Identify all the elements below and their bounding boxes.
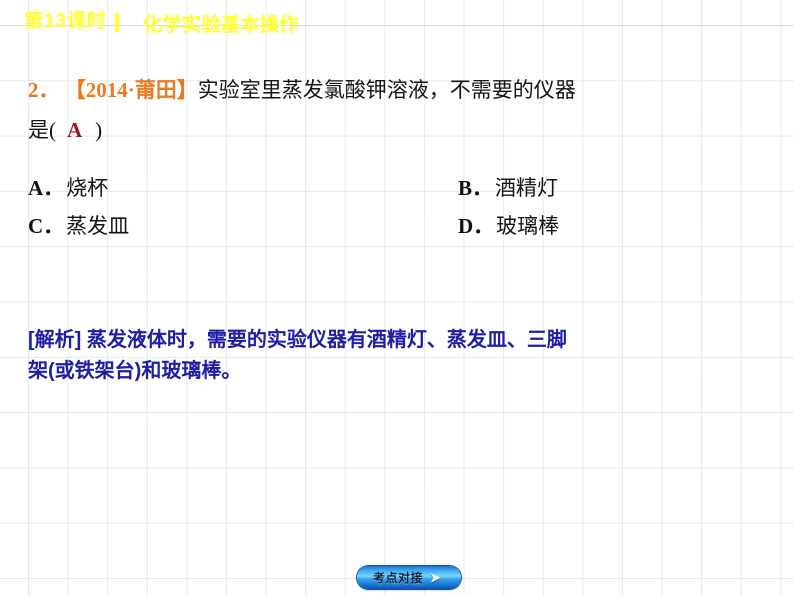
answer-prefix: 是( [28,118,56,142]
analysis-text-line-1: 蒸发液体时，需要的实验仪器有酒精灯、蒸发皿、三脚 [87,329,567,351]
option-d-label: D． [458,214,494,238]
option-b-label: B． [458,176,493,200]
analysis-line-1: [解析] 蒸发液体时，需要的实验仪器有酒精灯、蒸发皿、三脚 [28,325,768,356]
option-d-text: 玻璃棒 [496,214,559,238]
slide-canvas: 第13课时 化学实验基本操作 2． 【2014·莆田】实验室里蒸发氯酸钾溶液，不… [0,0,794,596]
header-lesson-label: 第13课时 [24,12,107,32]
analysis-tag: [解析] [28,329,81,351]
vertical-bar-icon [115,13,119,32]
question-source-tag: 【2014·莆田】 [65,78,198,102]
option-d[interactable]: D．玻璃棒 [458,207,559,245]
option-c-label: C． [28,214,64,238]
question-block: 2． 【2014·莆田】实验室里蒸发氯酸钾溶液，不需要的仪器 是(A) A．烧杯… [28,74,768,245]
answer-suffix: ) [95,118,102,142]
option-a-text: 烧杯 [66,176,108,200]
option-row: C．蒸发皿 D．玻璃棒 [28,207,768,245]
kaodian-duijie-button-label: 考点对接 [373,569,423,586]
question-stem-text: 实验室里蒸发氯酸钾溶液，不需要的仪器 [198,78,576,102]
option-b[interactable]: B．酒精灯 [458,169,558,207]
analysis-block: [解析] 蒸发液体时，需要的实验仪器有酒精灯、蒸发皿、三脚 架(或铁架台)和玻璃… [28,325,768,387]
option-row: A．烧杯 B．酒精灯 [28,169,768,207]
option-a[interactable]: A．烧杯 [28,169,458,207]
option-list: A．烧杯 B．酒精灯 C．蒸发皿 D．玻璃棒 [28,169,768,245]
analysis-line-2: 架(或铁架台)和玻璃棒。 [28,356,768,387]
question-number: 2． [28,78,60,102]
arrow-right-icon: ➤ [430,571,441,584]
option-c[interactable]: C．蒸发皿 [28,207,458,245]
option-c-text: 蒸发皿 [66,214,129,238]
header-topic-label: 化学实验基本操作 [143,8,299,37]
slide-header: 第13课时 化学实验基本操作 [0,0,794,44]
answer-key: A [56,118,95,142]
question-stem-line: 2． 【2014·莆田】实验室里蒸发氯酸钾溶液，不需要的仪器 [28,74,768,107]
option-a-label: A． [28,176,64,200]
option-b-text: 酒精灯 [495,176,558,200]
kaodian-duijie-button[interactable]: 考点对接 ➤ [357,566,461,589]
answer-line: 是(A) [28,114,768,147]
